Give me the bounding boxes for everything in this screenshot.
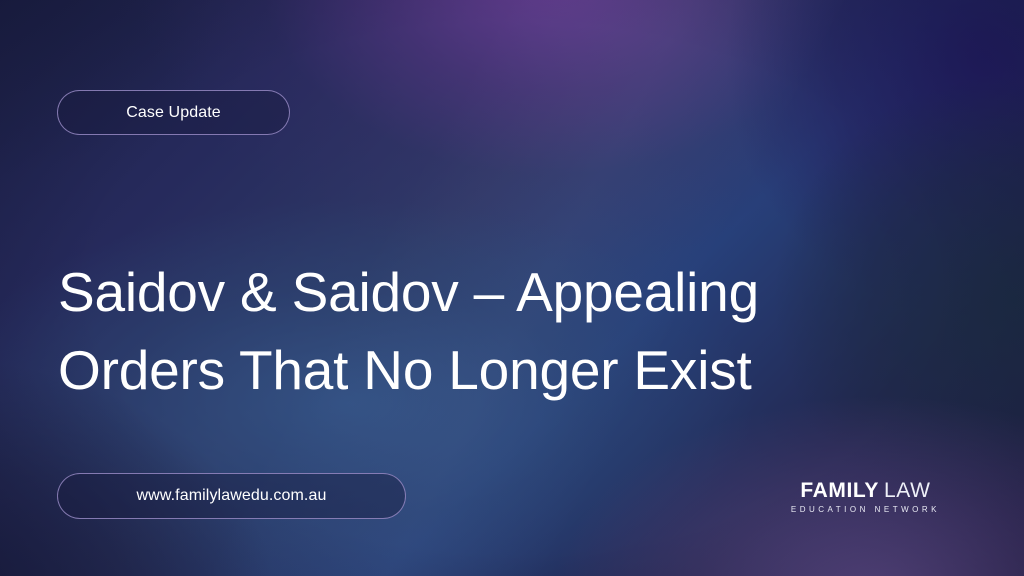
case-update-hero-card: Case Update Saidov & Saidov – Appealing …	[0, 0, 1024, 576]
card-content: Case Update Saidov & Saidov – Appealing …	[0, 0, 1024, 576]
website-url-label: www.familylawedu.com.au	[137, 488, 327, 504]
category-badge: Case Update	[57, 90, 290, 135]
brand-logo: FAMILYLAW EDUCATION NETWORK	[791, 480, 940, 514]
brand-name-law: LAW	[884, 479, 931, 502]
website-url-badge[interactable]: www.familylawedu.com.au	[57, 473, 406, 519]
page-title: Saidov & Saidov – Appealing Orders That …	[58, 253, 888, 409]
brand-name-family: FAMILY	[800, 479, 879, 502]
brand-tagline: EDUCATION NETWORK	[791, 506, 940, 514]
brand-wordmark: FAMILYLAW	[791, 480, 940, 501]
category-badge-label: Case Update	[126, 105, 221, 121]
